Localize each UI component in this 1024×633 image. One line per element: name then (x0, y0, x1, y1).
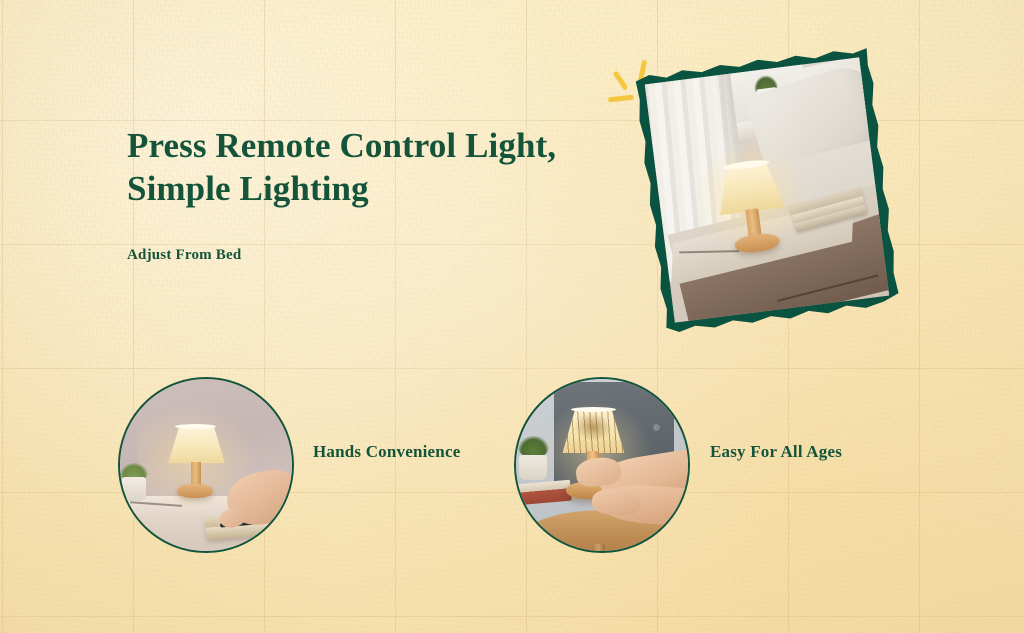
sofa-scene-table-leg (592, 544, 606, 553)
feature-label-hands-convenience: Hands Convenience (313, 442, 460, 462)
desk-scene-lamp-stem (191, 462, 201, 486)
feature-image-easy-for-all-ages (514, 377, 690, 553)
hero-photo-image (645, 57, 889, 322)
desk-scene-pot (122, 477, 146, 501)
sparkle-dash-3 (608, 95, 634, 103)
banner-canvas: Press Remote Control Light, Simple Light… (0, 0, 1024, 633)
hero-photo (632, 44, 901, 336)
sofa-scene-hand-lower (591, 488, 640, 516)
feature-image-hands-convenience (118, 377, 294, 553)
sofa-scene-lamp-shade-top (571, 407, 616, 412)
page-subtitle: Adjust From Bed (127, 247, 241, 264)
sofa-scene-pot (519, 455, 547, 481)
page-title: Press Remote Control Light, Simple Light… (127, 124, 597, 211)
bedroom-lamp-scene (645, 57, 889, 322)
feature-label-easy-for-all-ages: Easy For All Ages (710, 442, 842, 462)
headline-block: Press Remote Control Light, Simple Light… (127, 124, 597, 211)
desk-scene-lamp-base (177, 484, 213, 498)
sparkle-dash-2 (613, 70, 629, 90)
desk-scene-lamp-shade-top (175, 424, 216, 429)
